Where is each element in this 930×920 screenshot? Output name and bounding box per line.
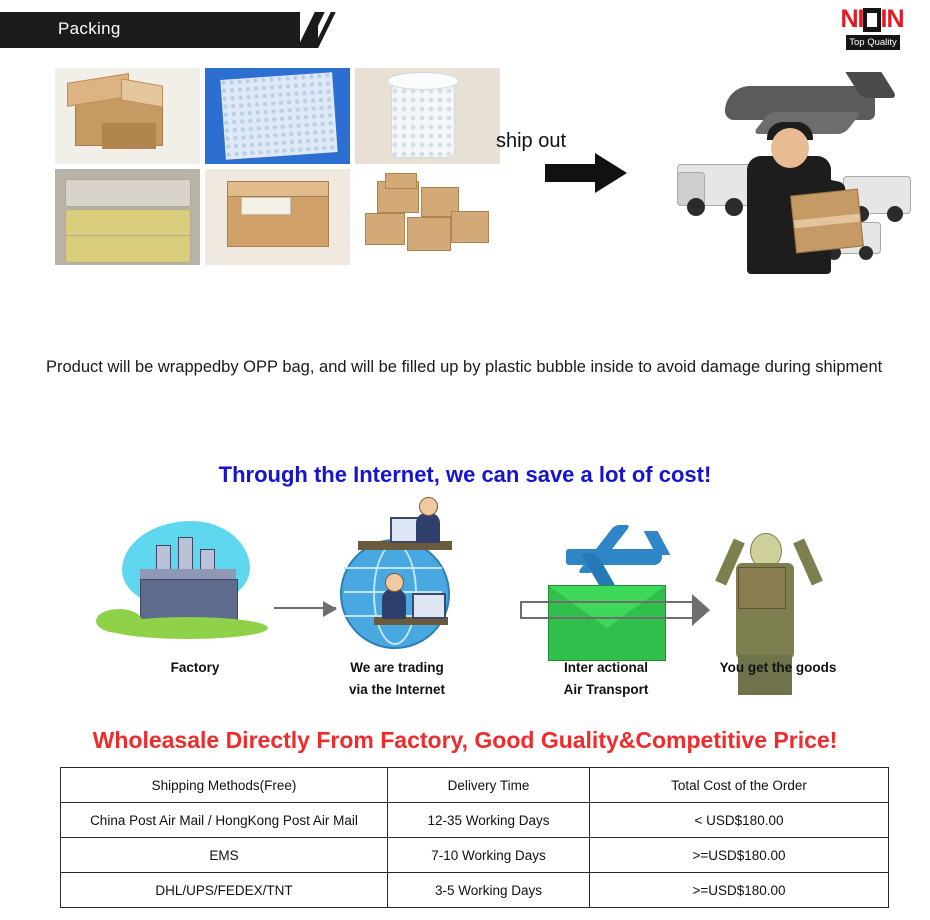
- envelope-icon: [548, 585, 666, 661]
- customer-arm-right: [793, 539, 823, 586]
- bubble-sheet: [220, 72, 337, 160]
- flow-label-trading-line2: via the Internet: [322, 679, 472, 701]
- flow-label-air-line2: Air Transport: [530, 679, 682, 701]
- logo-tagline: Top Quality: [846, 35, 900, 50]
- brand-logo: NIDIN Top Quality: [826, 6, 918, 52]
- flow-label-air-line1: Inter actional: [530, 657, 682, 679]
- photo-sealed-carton-box: [205, 169, 350, 265]
- table-row: EMS 7-10 Working Days >=USD$180.00: [61, 838, 889, 873]
- photo-stacked-cartons: [355, 169, 500, 265]
- flow-label-trading-line1: We are trading: [322, 657, 472, 679]
- ship-out-arrow-icon: [545, 156, 629, 190]
- courier-parcel: [790, 189, 864, 254]
- upper-person-body: [416, 513, 440, 543]
- courier-head: [771, 128, 809, 168]
- cell-cost-2: >=USD$180.00: [590, 873, 889, 908]
- airplane-icon: [558, 529, 668, 589]
- flow-label-goods: You get the goods: [690, 657, 866, 679]
- packing-photo-collage: [55, 68, 855, 306]
- upper-person-head: [419, 497, 438, 516]
- lower-person-body: [382, 589, 406, 619]
- wholesale-headline: Wholeasale Directly From Factory, Good G…: [0, 727, 930, 754]
- factory-ground: [108, 617, 268, 639]
- photo-open-carton-box: [55, 68, 200, 164]
- table-header-shipping-methods: Shipping Methods(Free): [61, 768, 388, 803]
- arrow-shaft: [545, 164, 597, 182]
- logo-mark-icon: [863, 8, 881, 32]
- van-bottom-wheel-2: [859, 246, 873, 260]
- packing-description: Product will be wrappedby OPP bag, and w…: [46, 350, 896, 384]
- business-flow-diagram: Factory We are trading via the Internet …: [60, 505, 880, 705]
- photo-bubble-wrap-sheet: [205, 68, 350, 164]
- cell-method-1: EMS: [61, 838, 388, 873]
- cell-method-0: China Post Air Mail / HongKong Post Air …: [61, 803, 388, 838]
- shipping-label: [241, 197, 291, 215]
- mini-carton-6: [385, 173, 417, 189]
- table-row: China Post Air Mail / HongKong Post Air …: [61, 803, 889, 838]
- packed-bag-1: [65, 179, 191, 207]
- photo-packed-bags: [55, 169, 200, 265]
- cell-time-1: 7-10 Working Days: [388, 838, 590, 873]
- cell-method-2: DHL/UPS/FEDEX/TNT: [61, 873, 388, 908]
- cell-time-0: 12-35 Working Days: [388, 803, 590, 838]
- table-header-total-cost: Total Cost of the Order: [590, 768, 889, 803]
- customer-parcel-icon: [738, 567, 786, 609]
- airplane-body: [566, 549, 662, 565]
- page-header: Packing NIDIN Top Quality: [0, 0, 930, 58]
- mini-carton-3: [365, 213, 405, 245]
- internet-savings-headline: Through the Internet, we can save a lot …: [0, 462, 930, 488]
- cell-time-2: 3-5 Working Days: [388, 873, 590, 908]
- cell-cost-1: >=USD$180.00: [590, 838, 889, 873]
- truck-wheel-1: [687, 198, 705, 216]
- table-row: DHL/UPS/FEDEX/TNT 3-5 Working Days >=USD…: [61, 873, 889, 908]
- lower-monitor-icon: [412, 593, 446, 619]
- courier-parcel-tape: [794, 214, 860, 229]
- cell-cost-0: < USD$180.00: [590, 803, 889, 838]
- flow-arrow-1-icon: [274, 607, 336, 609]
- logo-mark-inner: [867, 13, 877, 27]
- lower-person-head: [385, 573, 404, 592]
- photo-courier-and-vehicles: [675, 72, 911, 308]
- carton-interior: [102, 123, 156, 149]
- table-header-delivery-time: Delivery Time: [388, 768, 590, 803]
- mini-carton-4: [407, 217, 451, 251]
- page-title: Packing: [58, 19, 121, 39]
- van-wheel-2: [887, 206, 903, 222]
- header-black-banner: [0, 12, 300, 48]
- flow-label-factory: Factory: [130, 657, 260, 679]
- sealed-carton-top: [227, 181, 329, 197]
- mini-carton-5: [451, 211, 489, 243]
- table-header-row: Shipping Methods(Free) Delivery Time Tot…: [61, 768, 889, 803]
- ship-out-label: ship out: [466, 130, 596, 153]
- truck-wheel-2: [725, 198, 743, 216]
- bubble-roll-body: [391, 78, 455, 158]
- shipping-methods-table: Shipping Methods(Free) Delivery Time Tot…: [60, 767, 889, 908]
- arrow-head: [595, 153, 627, 193]
- flow-arrow-2-icon: [520, 601, 692, 619]
- packed-bag-3: [65, 235, 191, 263]
- bubble-roll-top: [387, 72, 459, 90]
- packed-bag-2: [65, 209, 191, 237]
